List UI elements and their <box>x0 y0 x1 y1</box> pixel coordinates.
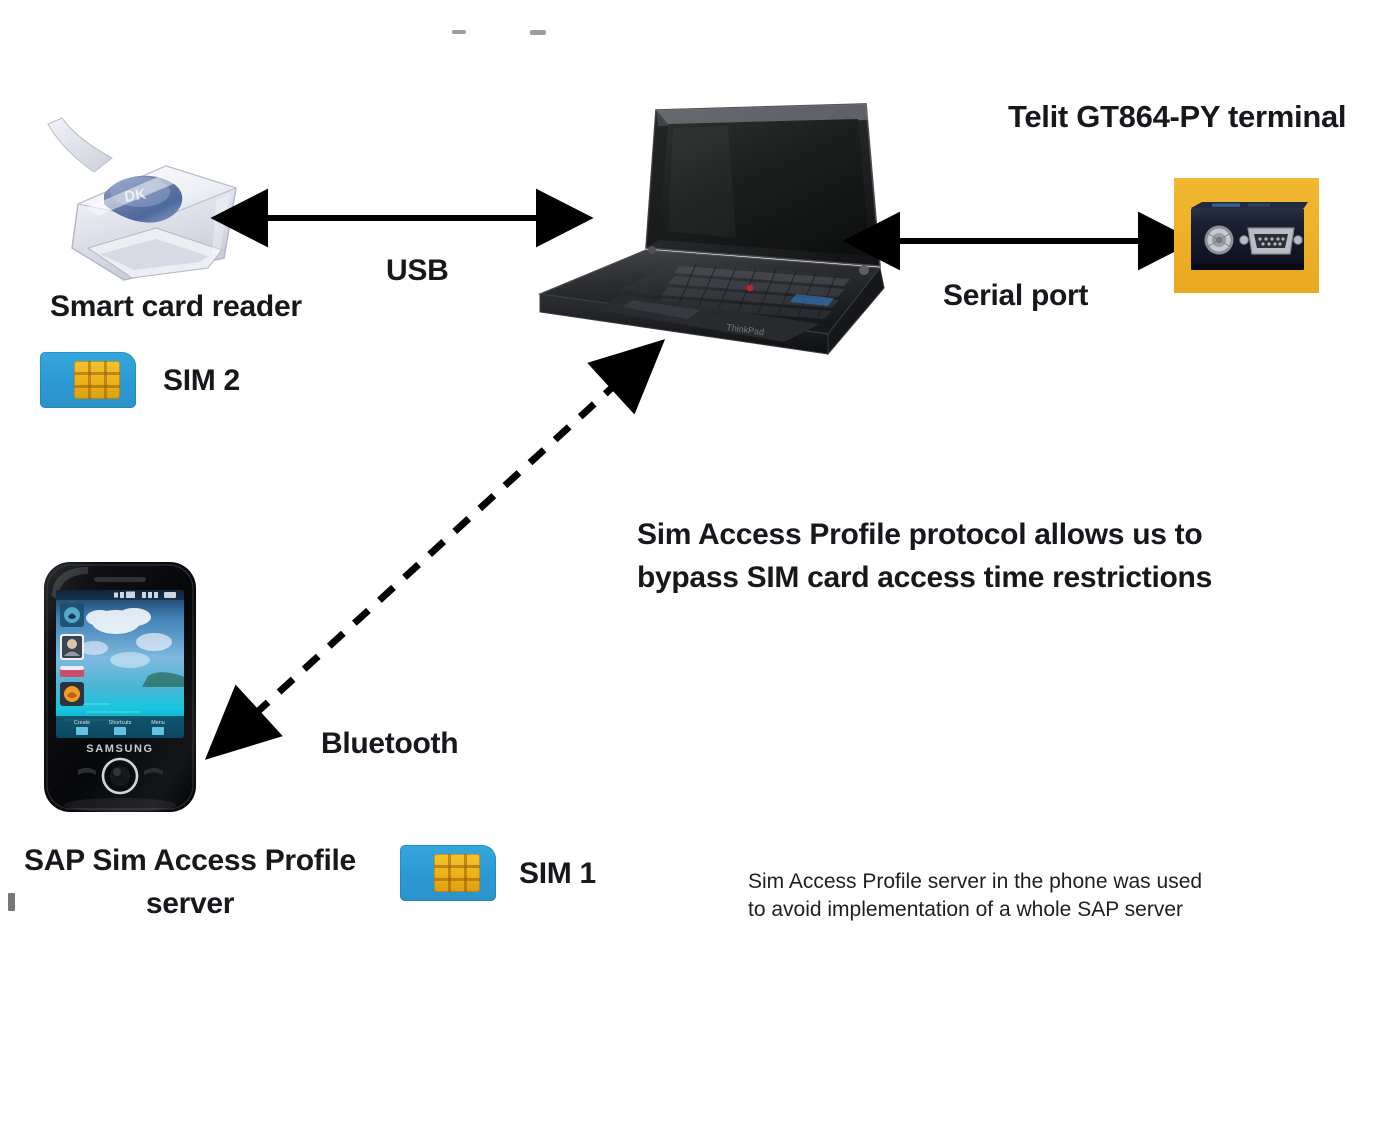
smart-card-reader-icon: DK <box>28 108 258 298</box>
sim-2-card-icon <box>40 352 136 408</box>
phone-caption-line2: server <box>18 883 362 926</box>
samsung-phone: Create Shortcuts Menu SAMSUNG <box>30 556 210 826</box>
sim-2-label: SIM 2 <box>163 363 240 398</box>
scan-artifact-left-margin <box>8 893 15 911</box>
svg-text:SAMSUNG: SAMSUNG <box>86 743 153 755</box>
phone-caption-line1: SAP Sim Access Profile <box>18 840 362 883</box>
samsung-phone-icon: Create Shortcuts Menu SAMSUNG <box>30 556 210 826</box>
usb-connection-arrow <box>240 198 570 242</box>
protocol-note: Sim Access Profile protocol allows us to… <box>637 514 1212 599</box>
server-note-line1: Sim Access Profile server in the phone w… <box>748 868 1202 896</box>
svg-text:Create: Create <box>74 720 90 726</box>
server-note-line2: to avoid implementation of a whole SAP s… <box>748 896 1202 924</box>
bluetooth-connection-label: Bluetooth <box>321 726 458 761</box>
sim-1-label: SIM 1 <box>519 856 596 891</box>
bluetooth-connection-arrow <box>230 360 640 740</box>
laptop-icon: ThinkPad <box>528 98 900 383</box>
protocol-note-line2: bypass SIM card access time restrictions <box>637 557 1212 600</box>
serial-connection-label: Serial port <box>943 278 1088 313</box>
serial-connection-arrow <box>872 221 1172 265</box>
scan-artifact-top-right <box>530 30 546 35</box>
diagram-canvas: DK Smart card reader SIM 2 USB <box>0 0 1390 1129</box>
telit-terminal <box>1174 178 1319 293</box>
usb-connection-label: USB <box>386 253 448 288</box>
sim-1-card-icon <box>400 845 496 901</box>
protocol-note-line1: Sim Access Profile protocol allows us to <box>637 514 1212 557</box>
phone-caption: SAP Sim Access Profile server <box>18 840 362 925</box>
svg-text:Menu: Menu <box>151 720 165 726</box>
telit-terminal-icon <box>1174 178 1319 293</box>
smart-card-reader-label: Smart card reader <box>50 289 302 324</box>
svg-text:Shortcuts: Shortcuts <box>109 720 132 726</box>
smart-card-reader: DK <box>28 108 258 298</box>
scan-artifact-top-left <box>452 30 466 34</box>
server-note: Sim Access Profile server in the phone w… <box>748 868 1202 925</box>
telit-terminal-label: Telit GT864-PY terminal <box>1008 99 1346 136</box>
laptop: ThinkPad <box>528 98 900 383</box>
